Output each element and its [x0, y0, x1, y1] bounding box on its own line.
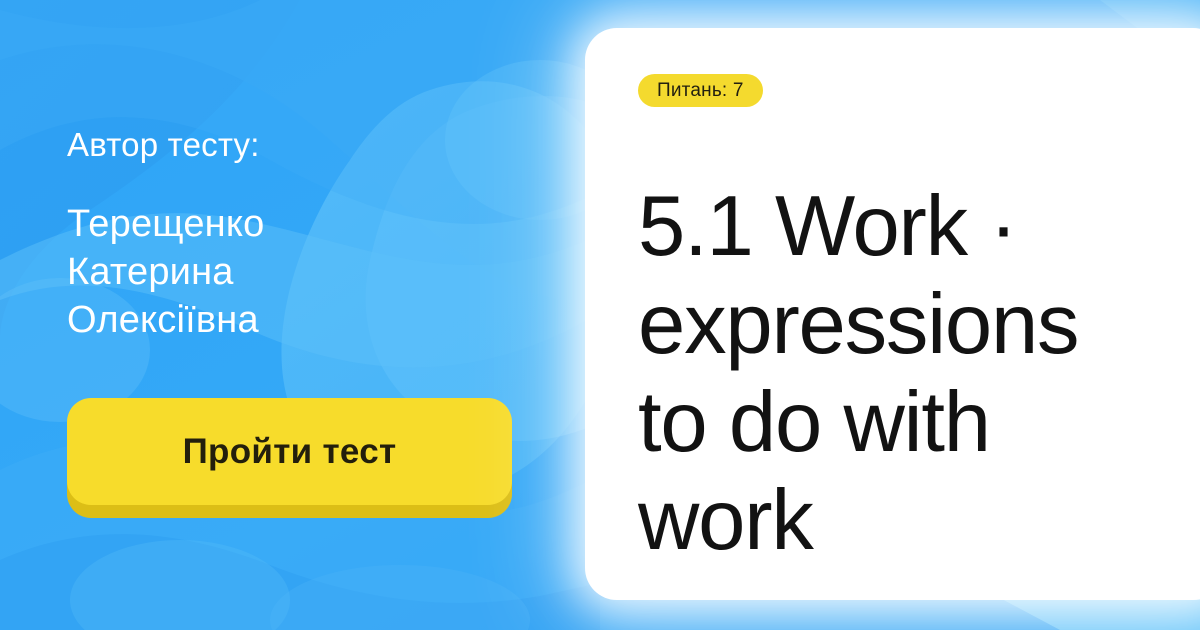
- start-test-button-label: Пройти тест: [183, 432, 397, 472]
- start-test-button[interactable]: Пройти тест: [67, 398, 512, 505]
- author-name: Терещенко Катерина Олексіївна: [67, 200, 397, 344]
- test-title: 5.1 Work · expressions to do with work: [638, 178, 1168, 570]
- author-label: Автор тесту:: [67, 126, 260, 164]
- question-count-badge-label: Питань: 7: [657, 80, 744, 102]
- left-panel: Автор тесту: Терещенко Катерина Олексіїв…: [0, 0, 590, 630]
- question-count-badge: Питань: 7: [638, 74, 763, 107]
- question-card: Питань: 7 5.1 Work · expressions to do w…: [585, 28, 1200, 600]
